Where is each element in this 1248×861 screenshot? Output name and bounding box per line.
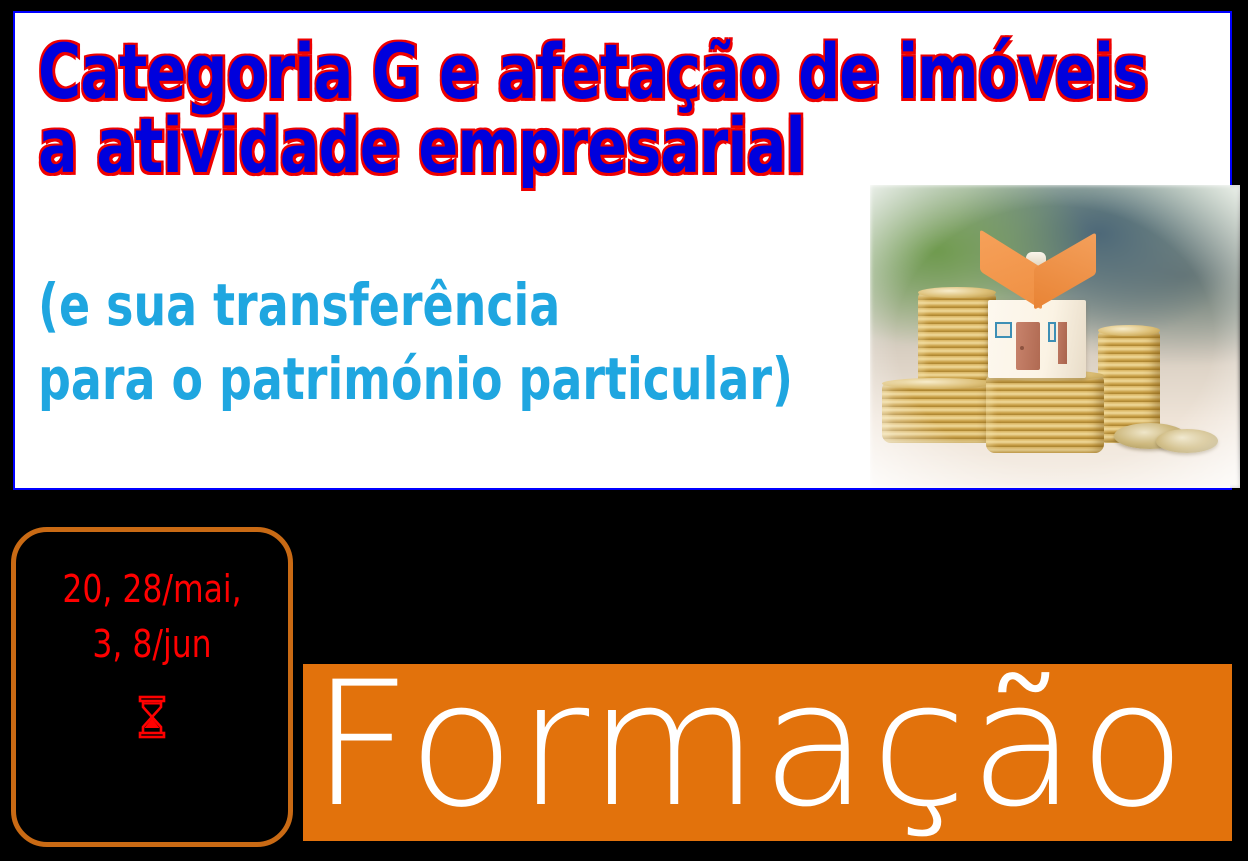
house-figurine-icon [978,250,1096,378]
subtitle-line-2: para o património particular) [38,342,760,416]
date-line-1: 20, 28/mai, [27,562,277,617]
coin-stack-center [986,375,1104,453]
date-card: 20, 28/mai, 3, 8/jun [11,527,293,847]
hero-panel: Categoria G e afetação de imóveis a ativ… [13,11,1232,490]
house-side-door [1058,322,1067,364]
house-door-knob [1020,346,1024,350]
page-subtitle: (e sua transferência para o património p… [38,268,858,416]
date-text: 20, 28/mai, 3, 8/jun [27,562,277,672]
house-window-left [995,322,1012,338]
page-title: Categoria G e afetação de imóveis a ativ… [38,35,878,184]
title-line-2: a atividade empresarial [38,109,760,183]
formacao-banner: Formação [303,664,1232,841]
house-coins-photo [870,185,1240,488]
promo-poster: Categoria G e afetação de imóveis a ativ… [0,0,1248,861]
house-window-right [1048,322,1056,342]
date-line-2: 3, 8/jun [27,617,277,672]
hourglass-icon [16,695,288,746]
formacao-banner-label: Formação [311,664,1188,838]
title-line-1: Categoria G e afetação de imóveis [38,35,760,109]
subtitle-line-1: (e sua transferência [38,268,760,342]
